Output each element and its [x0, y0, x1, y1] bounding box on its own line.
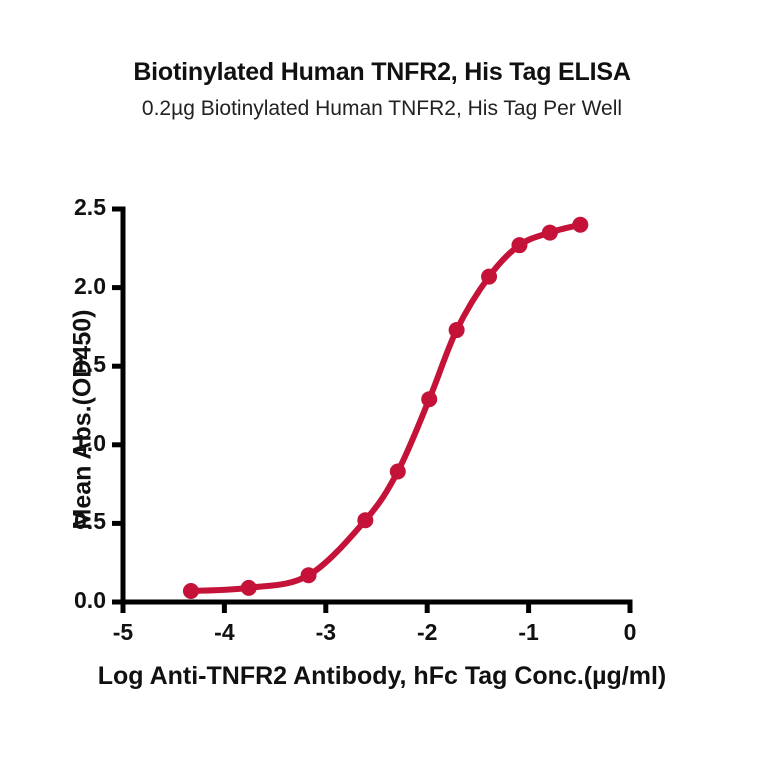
x-tick-label: -4 — [204, 619, 244, 646]
chart-figure: Biotinylated Human TNFR2, His Tag ELISA … — [0, 0, 764, 764]
x-tick-label: -5 — [103, 619, 143, 646]
series-line — [191, 225, 580, 591]
y-tick-label: 1.0 — [42, 430, 106, 457]
y-tick-label: 0.0 — [42, 587, 106, 614]
plot-canvas — [0, 0, 764, 764]
y-tick-label: 1.5 — [42, 351, 106, 378]
plot-area: Mean Abs.(OD450) Log Anti-TNFR2 Antibody… — [0, 0, 764, 764]
data-point-marker — [241, 580, 257, 596]
series-markers — [183, 217, 588, 599]
data-point-marker — [449, 322, 465, 338]
data-point-marker — [183, 583, 199, 599]
data-point-marker — [301, 567, 317, 583]
data-point-marker — [572, 217, 588, 233]
y-tick-label: 2.0 — [42, 273, 106, 300]
x-tick-label: 0 — [610, 619, 650, 646]
data-point-marker — [357, 512, 373, 528]
data-point-marker — [421, 391, 437, 407]
axis-lines — [123, 209, 630, 602]
x-tick-label: -2 — [407, 619, 447, 646]
x-tick-label: -1 — [509, 619, 549, 646]
data-point-marker — [390, 464, 406, 480]
y-tick-label: 2.5 — [42, 194, 106, 221]
data-point-marker — [511, 237, 527, 253]
x-tick-label: -3 — [306, 619, 346, 646]
y-tick-label: 0.5 — [42, 508, 106, 535]
data-point-marker — [481, 269, 497, 285]
data-point-marker — [542, 225, 558, 241]
